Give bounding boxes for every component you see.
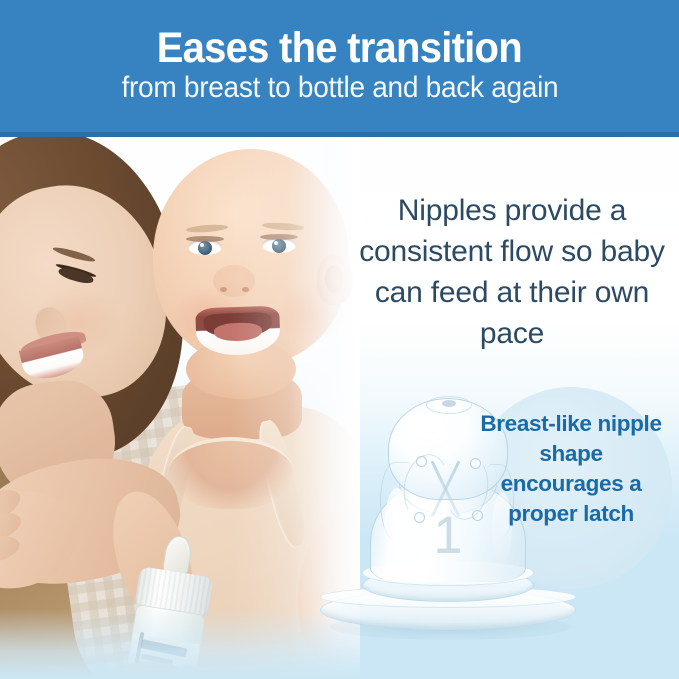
baby-iris-left — [198, 241, 212, 255]
callout-label: Breast-like nipple shape encourages a pr… — [478, 409, 664, 529]
page-subtitle: from breast to bottle and back again — [121, 72, 558, 104]
page-title: Eases the transition — [157, 27, 522, 70]
flow-rate-number: 1 — [411, 510, 485, 562]
feature-description: Nipples provide a consistent flow so bab… — [352, 190, 672, 354]
baby-eyelid-left — [186, 236, 224, 242]
header-banner: Eases the transition from breast to bott… — [0, 0, 679, 132]
product-marketing-image: Eases the transition from breast to bott… — [0, 0, 679, 679]
nipple-tip-hole — [442, 400, 456, 407]
baby-nostril-left — [220, 287, 227, 292]
header-divider — [0, 132, 679, 137]
